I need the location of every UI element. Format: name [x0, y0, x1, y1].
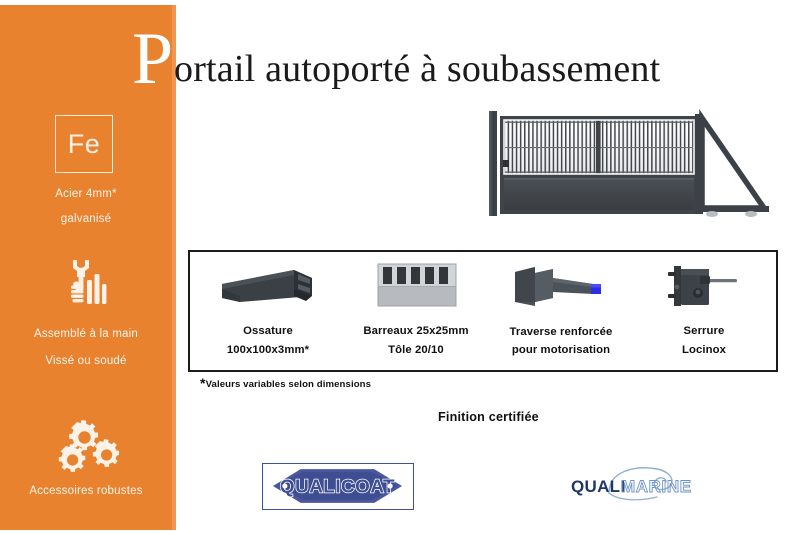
qualimarine-wordmark-bold: QUALI	[571, 477, 625, 496]
feature-barreaux: Barreaux 25x25mm Tôle 20/10	[342, 252, 490, 370]
qualicoat-logo-art: QUALICOAT	[263, 464, 412, 508]
page-title-text: ortail autoporté à soubassement	[174, 48, 660, 90]
feature-caption-serrure-2: Locinox	[630, 343, 778, 358]
cantilever-sliding-gate-illustration	[483, 108, 783, 220]
fe-element-box-icon: Fe	[55, 115, 113, 173]
qualimarine-logo: QUALI MARINE	[565, 463, 715, 510]
reinforced-crossbeam-icon	[487, 260, 635, 312]
page-title-initial: P	[132, 22, 173, 96]
feature-caption-ossature-2: 100x100x3mm*	[194, 343, 342, 358]
feature-caption-barreaux-2: Tôle 20/10	[342, 343, 490, 358]
qualimarine-logo-art: QUALI MARINE	[565, 463, 715, 507]
lock-icon	[630, 260, 778, 312]
qualimarine-wordmark-light: MARINE	[621, 477, 692, 496]
feature-caption-serrure-1: Serrure	[630, 324, 778, 339]
footnote-asterisk-note: *Valeurs variables selon dimensions	[200, 379, 371, 390]
feature-caption-ossature-1: Ossature	[194, 324, 342, 339]
feature-caption-barreaux-1: Barreaux 25x25mm	[342, 324, 490, 339]
bars-and-sheet-panel-icon	[342, 260, 490, 312]
sidebar-item-label-steel-1: Acier 4mm*	[0, 186, 172, 203]
feature-caption-traverse-2: pour motorisation	[487, 343, 635, 358]
qualicoat-logo: QUALICOAT	[262, 463, 414, 510]
sidebar-item-label-steel-2: galvanisé	[0, 211, 172, 228]
poster-root: Fe Acier 4mm* galvanisé Assemblé à la ma…	[0, 0, 800, 534]
sidebar-item-label-assembly-2: Vissé ou soudé	[0, 353, 172, 370]
finition-certifiee-label: Finition certifiée	[438, 410, 539, 424]
fe-symbol-label: Fe	[56, 116, 112, 172]
feature-serrure: Serrure Locinox	[630, 252, 778, 370]
qualicoat-wordmark: QUALICOAT	[280, 475, 395, 496]
sidebar-item-label-accessories: Accessoires robustes	[0, 483, 172, 500]
hand-wrench-icon	[61, 258, 111, 306]
sidebar-item-label-assembly-1: Assemblé à la main	[0, 326, 172, 343]
feature-traverse: Traverse renforcée pour motorisation	[487, 252, 635, 370]
gears-icon	[53, 420, 119, 476]
feature-ossature: Ossature 100x100x3mm*	[194, 252, 342, 370]
features-panel: Ossature 100x100x3mm* Barreaux 25x25mm T…	[188, 250, 778, 372]
steel-post-profile-icon	[194, 260, 342, 312]
feature-caption-traverse-1: Traverse renforcée	[487, 324, 635, 340]
footnote-text: Valeurs variables selon dimensions	[206, 379, 372, 390]
